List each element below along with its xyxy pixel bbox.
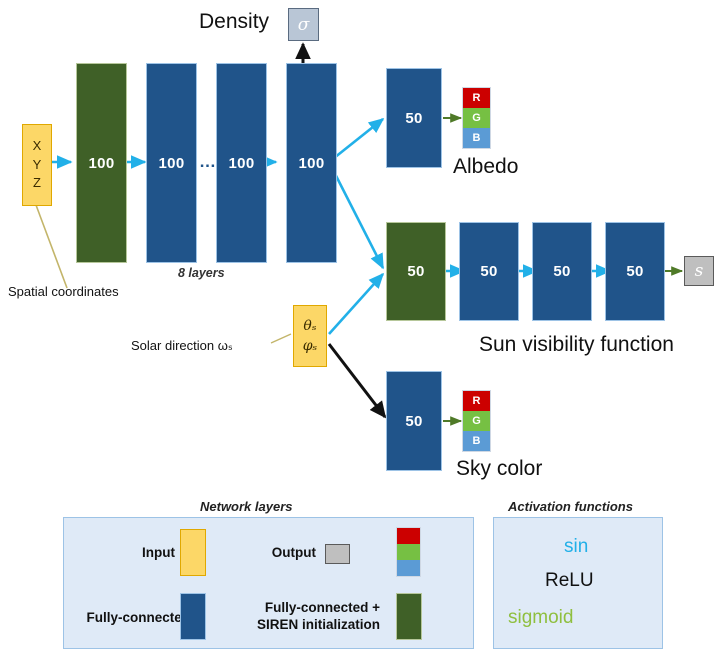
trunk-block-4-label: 100	[299, 155, 325, 172]
legend-label-sin: sin	[564, 536, 588, 558]
legend-swatch-fully-connected	[180, 593, 206, 640]
trunk-block-2[interactable]: 100	[146, 63, 197, 263]
output-density-sigma-label: σ	[298, 15, 310, 35]
head-title-sun-visibility: Sun visibility function	[479, 333, 674, 357]
arrow-trunk-to-albedo	[329, 119, 383, 162]
legend-rgb-g	[397, 544, 420, 560]
input-spatial-z: Z	[33, 174, 41, 193]
head-title-density: Density	[199, 10, 269, 34]
legend-label-siren-line2: SIREN initialization	[240, 617, 380, 634]
trunk-block-4[interactable]: 100	[286, 63, 337, 263]
trunk-layers-note: 8 layers	[178, 266, 225, 280]
trunk-block-1[interactable]: 100	[76, 63, 127, 263]
legend-label-output: Output	[246, 545, 316, 560]
arrow-trunk-to-sunvis	[329, 162, 383, 268]
output-albedo-b: B	[463, 128, 490, 148]
sunvis-block-1[interactable]: 50	[386, 222, 446, 321]
legend-label-relu: ReLU	[545, 570, 594, 592]
input-solar-direction[interactable]: θₛ φₛ	[293, 305, 327, 367]
trunk-ellipsis: …	[199, 152, 217, 172]
input-spatial-coordinates[interactable]: X Y Z	[22, 124, 52, 206]
legend-swatch-output-grey	[325, 544, 350, 564]
legend-label-siren-line1: Fully-connected +	[240, 600, 380, 617]
diagram-canvas: X Y Z Spatial coordinates θₛ φₛ Solar di…	[0, 0, 720, 658]
leader-line-spatial	[36, 205, 67, 288]
sunvis-block-4[interactable]: 50	[605, 222, 665, 321]
output-skycolor-g: G	[463, 411, 490, 431]
output-skycolor-r: R	[463, 391, 490, 411]
output-sun-visibility[interactable]: s	[684, 256, 714, 286]
output-albedo-g: G	[463, 108, 490, 128]
trunk-block-3-label: 100	[229, 155, 255, 172]
trunk-block-1-label: 100	[89, 155, 115, 172]
input-solar-theta: θₛ	[303, 316, 316, 336]
output-albedo-r: R	[463, 88, 490, 108]
head-title-sky-color: Sky color	[456, 457, 542, 481]
legend-rgb-r	[397, 528, 420, 544]
skycolor-block-1-label: 50	[405, 413, 422, 430]
output-albedo-rgb[interactable]: R G B	[462, 87, 491, 149]
legend-activations-title: Activation functions	[508, 499, 633, 514]
sunvis-block-1-label: 50	[407, 263, 424, 280]
output-skycolor-rgb[interactable]: R G B	[462, 390, 491, 452]
legend-label-sigmoid: sigmoid	[508, 607, 573, 629]
output-skycolor-b: B	[463, 431, 490, 451]
leader-line-solar	[271, 334, 291, 343]
sunvis-block-2-label: 50	[480, 263, 497, 280]
legend-layers-title: Network layers	[200, 499, 293, 514]
legend-swatch-siren	[396, 593, 422, 640]
caption-spatial-coordinates: Spatial coordinates	[8, 284, 119, 299]
arrow-solar-to-skycolor	[329, 344, 385, 417]
output-density-sigma[interactable]: σ	[288, 8, 319, 41]
sunvis-block-3-label: 50	[553, 263, 570, 280]
albedo-block-1-label: 50	[405, 110, 422, 127]
head-title-albedo: Albedo	[453, 155, 518, 179]
input-solar-phi: φₛ	[303, 336, 318, 356]
legend-label-siren: Fully-connected + SIREN initialization	[240, 600, 380, 634]
albedo-block-1[interactable]: 50	[386, 68, 442, 168]
legend-label-fully-connected: Fully-connected	[70, 610, 190, 625]
legend-label-input: Input	[110, 545, 175, 560]
arrow-solar-to-sunvis	[329, 274, 383, 334]
output-sun-visibility-label: s	[695, 261, 704, 281]
sunvis-block-3[interactable]: 50	[532, 222, 592, 321]
sunvis-block-4-label: 50	[626, 263, 643, 280]
skycolor-block-1[interactable]: 50	[386, 371, 442, 471]
legend-rgb-b	[397, 560, 420, 576]
input-spatial-y: Y	[33, 156, 42, 175]
trunk-block-2-label: 100	[159, 155, 185, 172]
input-spatial-x: X	[33, 137, 42, 156]
legend-swatch-output-rgb	[396, 527, 421, 577]
trunk-block-3[interactable]: 100	[216, 63, 267, 263]
caption-solar-direction: Solar direction ωₛ	[131, 338, 233, 354]
legend-swatch-input	[180, 529, 206, 576]
sunvis-block-2[interactable]: 50	[459, 222, 519, 321]
